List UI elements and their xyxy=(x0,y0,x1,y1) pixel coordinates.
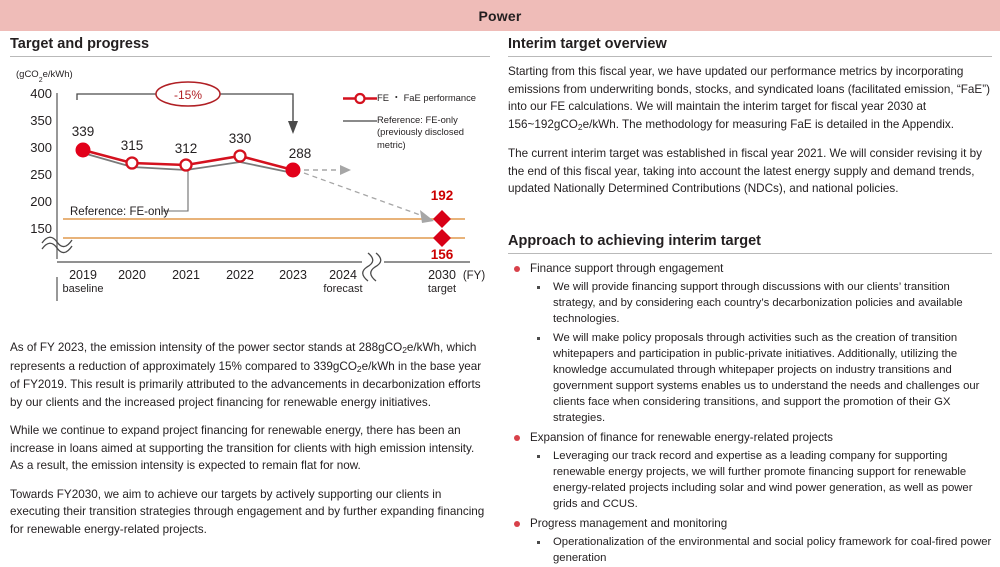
datapoint-2022 xyxy=(235,151,246,162)
datapoint-2020 xyxy=(127,158,138,169)
target-label-156: 156 xyxy=(431,247,454,262)
reduction-callout-text: -15% xyxy=(174,88,202,102)
reduction-arrow-head xyxy=(288,121,298,134)
ytick-400: 400 xyxy=(30,86,52,101)
xtick-2030-sub: target xyxy=(428,283,456,295)
datapoint-2021 xyxy=(181,160,192,171)
xtick-2020: 2020 xyxy=(118,268,146,282)
approach-subitem: We will provide financing support throug… xyxy=(508,279,992,327)
legend-label-reference-line3: metric) xyxy=(377,139,406,150)
legend-marker-reference xyxy=(343,114,377,127)
reference-inline-label: Reference: FE-only xyxy=(70,206,169,218)
target-marker-156 xyxy=(433,229,451,247)
emission-intensity-chart: (gCO2e/kWh) 400 350 300 250 200 150 xyxy=(10,63,490,303)
left-section-heading: Target and progress xyxy=(10,36,490,57)
datalabel-2020: 315 xyxy=(121,138,144,153)
ytick-350: 350 xyxy=(30,113,52,128)
datapoint-2019 xyxy=(77,144,90,157)
approach-bullet-list: Finance support through engagement We wi… xyxy=(508,260,992,567)
x-axis-unit-label: (FY) xyxy=(463,270,486,282)
ytick-250: 250 xyxy=(30,167,52,182)
xtick-2023: 2023 xyxy=(279,268,307,282)
page-header-banner: Power xyxy=(0,0,1000,31)
legend-label-reference: Reference: FE-only (previously disclosed… xyxy=(377,114,464,151)
xtick-2030: 2030 xyxy=(428,268,456,282)
page-title: Power xyxy=(478,8,521,24)
section-spacer xyxy=(508,209,992,233)
xtick-2019: 2019 xyxy=(69,268,97,282)
ytick-150: 150 xyxy=(30,221,52,236)
legend-label-reference-line2: (previously disclosed xyxy=(377,126,464,137)
left-paragraph-3: Towards FY2030, we aim to achieve our ta… xyxy=(10,486,490,539)
right-column: Interim target overview Starting from th… xyxy=(508,36,992,561)
left-column: Target and progress (gCO2e/kWh) 400 350 … xyxy=(10,36,490,561)
projection-to-target-arrowhead xyxy=(420,210,434,223)
reference-label-leader xyxy=(162,171,188,211)
datapoint-2023 xyxy=(287,164,300,177)
target-marker-192 xyxy=(433,210,451,228)
approach-item-heading: Expansion of finance for renewable energ… xyxy=(508,429,992,446)
xtick-2019-sub: baseline xyxy=(63,283,104,295)
target-label-192: 192 xyxy=(431,188,454,203)
legend-label-fe-fae: FE ・ FaE performance xyxy=(377,92,476,104)
approach-subitem: Operationalization of the environmental … xyxy=(508,534,992,566)
approach-item-heading: Finance support through engagement xyxy=(508,260,992,277)
legend-item-fe-fae: FE ・ FaE performance xyxy=(343,92,493,105)
datalabel-2021: 312 xyxy=(175,141,198,156)
ytick-300: 300 xyxy=(30,140,52,155)
approach-item-heading: Progress management and monitoring xyxy=(508,515,992,532)
datalabel-2019: 339 xyxy=(72,124,95,139)
left-paragraph-1: As of FY 2023, the emission intensity of… xyxy=(10,339,490,411)
projection-flat-arrowhead xyxy=(340,165,351,175)
chart-legend: FE ・ FaE performance Reference: FE-only … xyxy=(343,92,493,160)
legend-label-reference-line1: Reference: FE-only xyxy=(377,114,458,125)
ytick-200: 200 xyxy=(30,194,52,209)
legend-item-reference: Reference: FE-only (previously disclosed… xyxy=(343,114,493,151)
left-paragraph-2: While we continue to expand project fina… xyxy=(10,422,490,475)
overview-paragraph-1: Starting from this fiscal year, we have … xyxy=(508,63,992,134)
xtick-2024-sub: forecast xyxy=(323,283,362,295)
xtick-2021: 2021 xyxy=(172,268,200,282)
approach-subitem: Leveraging our track record and expertis… xyxy=(508,448,992,512)
xtick-2024: 2024 xyxy=(329,268,357,282)
approach-subitem: We will make policy proposals through ac… xyxy=(508,330,992,426)
page-root: Power Target and progress (gCO2e/kWh) 40… xyxy=(0,0,1000,567)
datalabel-2022: 330 xyxy=(229,131,252,146)
approach-heading: Approach to achieving interim target xyxy=(508,233,992,254)
xtick-2022: 2022 xyxy=(226,268,254,282)
overview-paragraph-2: The current interim target was establish… xyxy=(508,145,992,198)
projection-to-target-line xyxy=(304,173,423,216)
legend-marker-fe-fae xyxy=(343,92,377,105)
datalabel-2023: 288 xyxy=(289,146,312,161)
interim-target-overview-heading: Interim target overview xyxy=(508,36,992,57)
left-paragraphs: As of FY 2023, the emission intensity of… xyxy=(10,339,490,538)
